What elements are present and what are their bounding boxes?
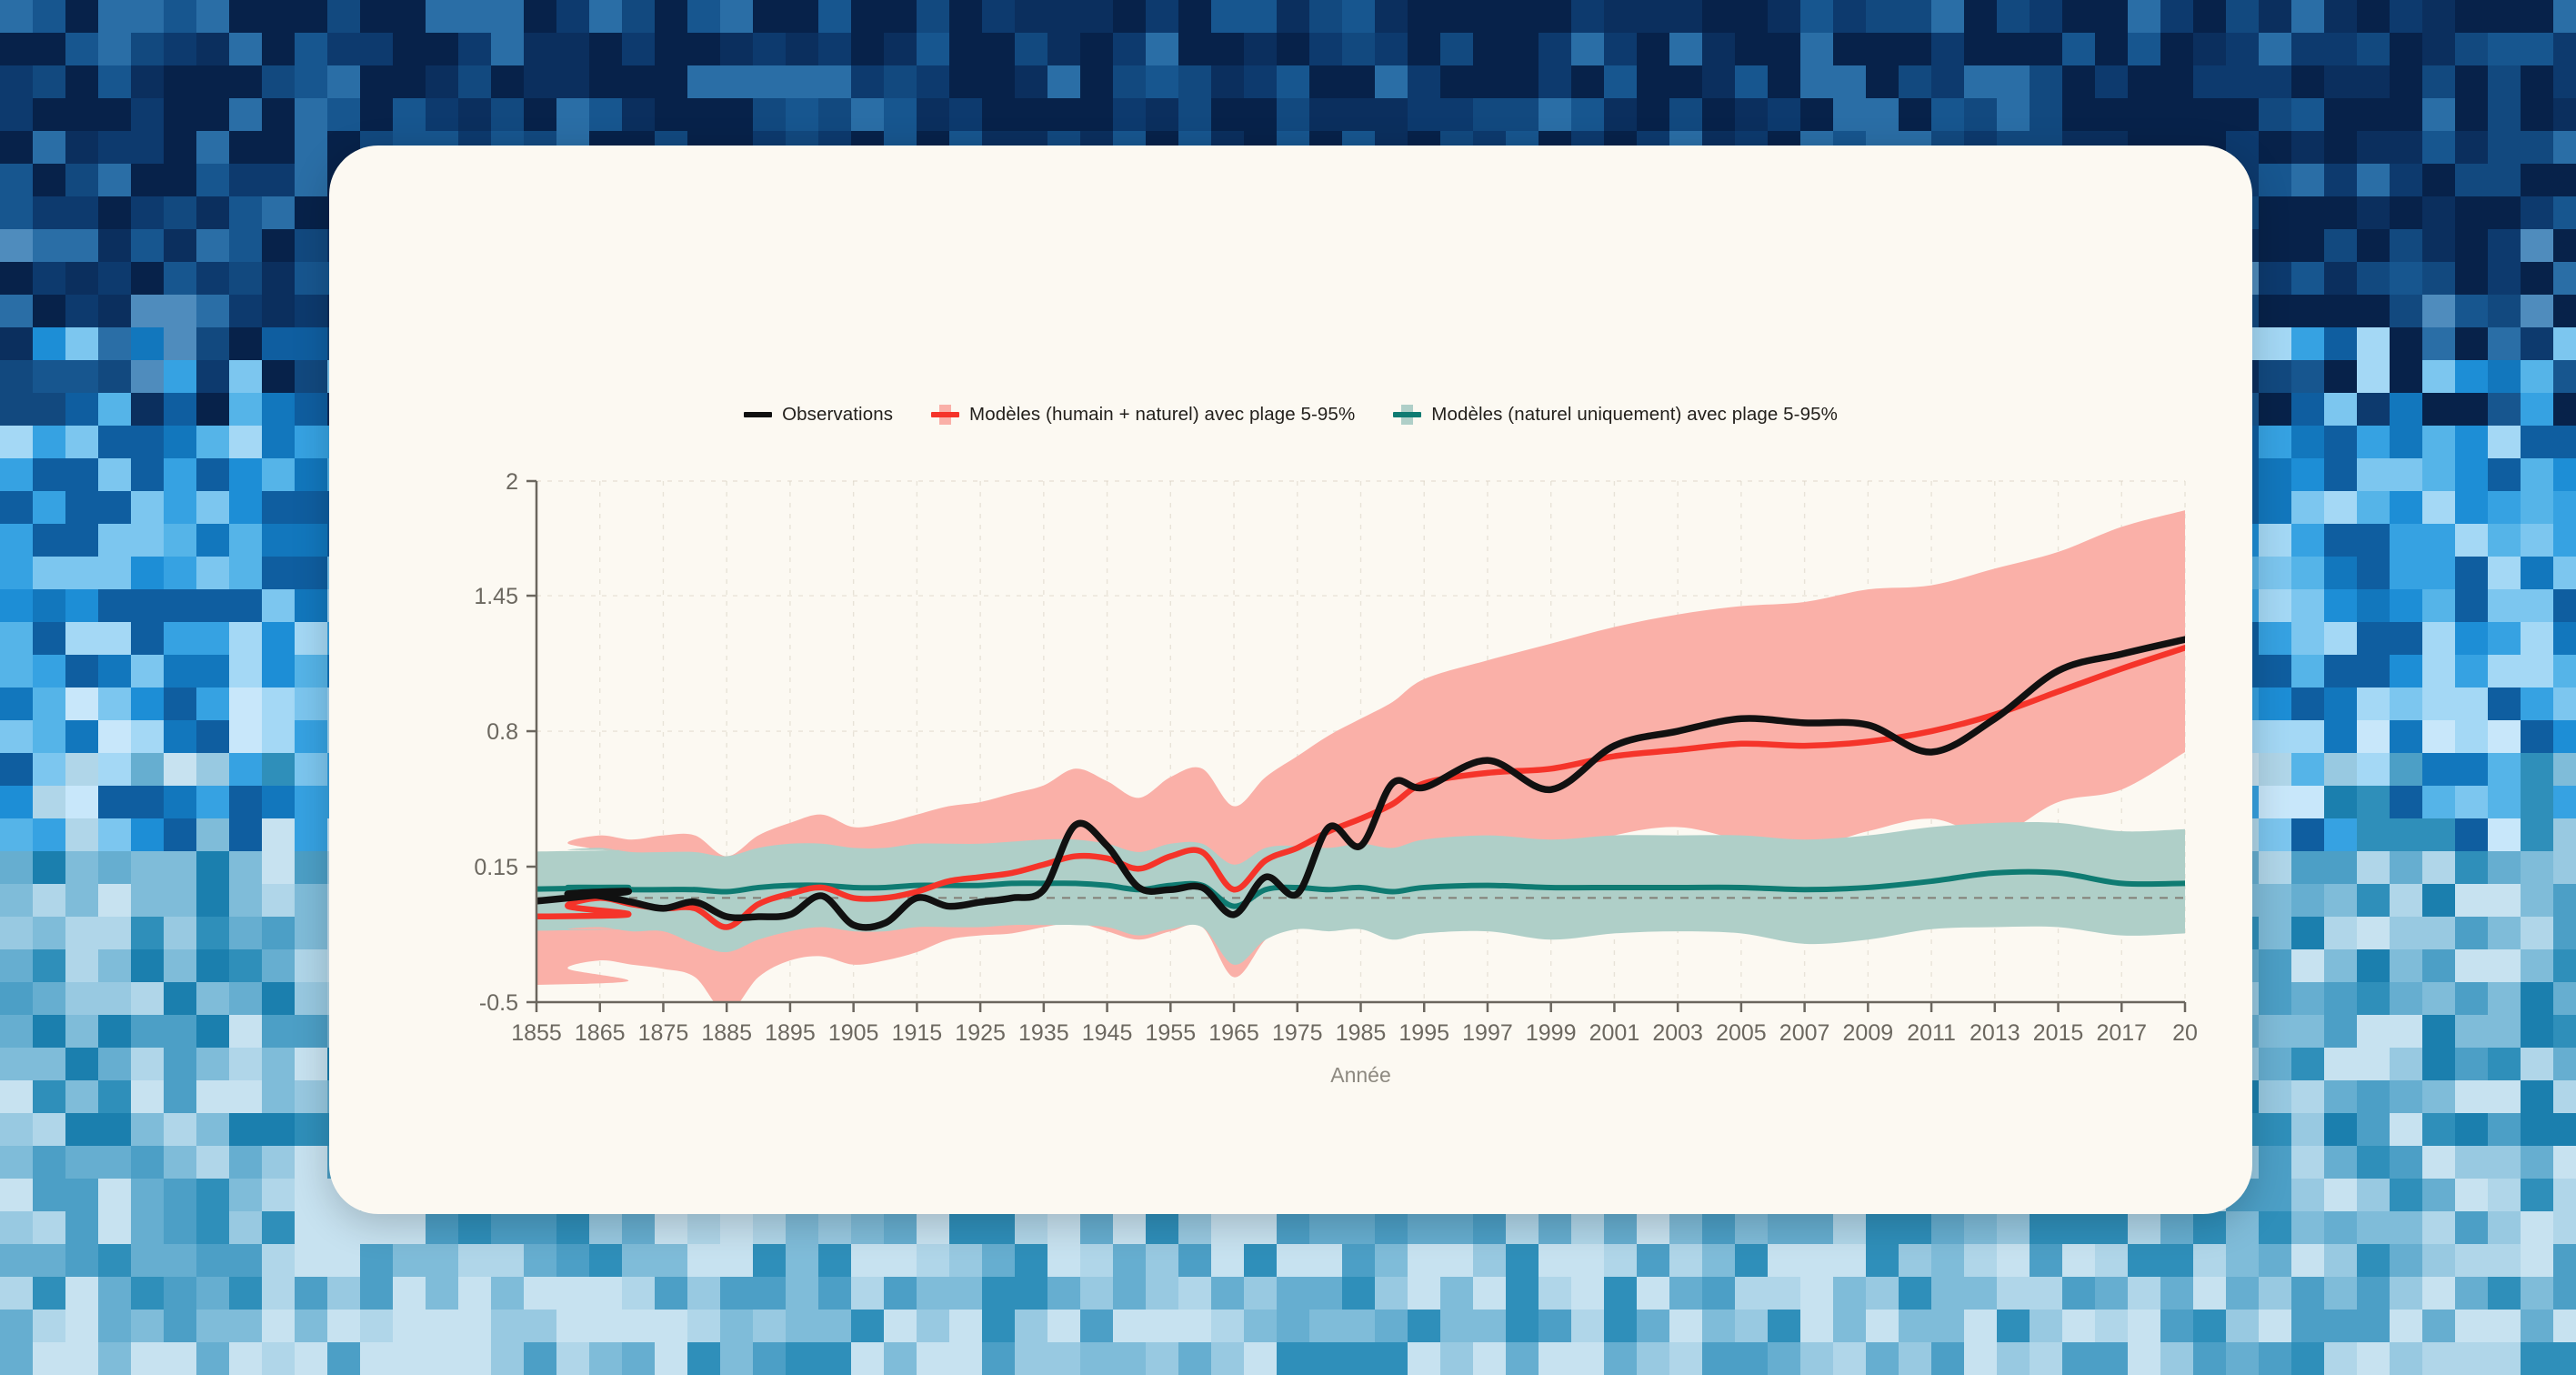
mosaic-tile bbox=[982, 0, 1015, 33]
mosaic-tile bbox=[1473, 33, 1506, 65]
mosaic-tile bbox=[1146, 65, 1178, 98]
mosaic-tile bbox=[65, 557, 98, 589]
mosaic-tile bbox=[98, 131, 131, 164]
mosaic-tile bbox=[65, 917, 98, 949]
mosaic-tile bbox=[1604, 0, 1637, 33]
mosaic-tile bbox=[2422, 687, 2455, 720]
mosaic-tile bbox=[2259, 949, 2291, 982]
mosaic-tile bbox=[2226, 1211, 2259, 1244]
mosaic-tile bbox=[851, 1244, 884, 1277]
x-tick-label: 2007 bbox=[1779, 1020, 1830, 1046]
mosaic-tile bbox=[982, 1277, 1015, 1310]
mosaic-tile bbox=[2160, 33, 2193, 65]
mosaic-tile bbox=[2160, 1310, 2193, 1342]
mosaic-tile bbox=[2521, 1179, 2553, 1211]
mosaic-tile bbox=[1768, 1277, 1800, 1310]
mosaic-tile bbox=[2553, 884, 2576, 917]
mosaic-tile bbox=[2553, 262, 2576, 295]
x-tick-label: 2017 bbox=[2096, 1020, 2147, 1046]
mosaic-tile bbox=[2390, 818, 2422, 851]
mosaic-tile bbox=[262, 1048, 295, 1080]
mosaic-tile bbox=[2422, 1080, 2455, 1113]
mosaic-tile bbox=[2128, 1244, 2160, 1277]
mosaic-tile bbox=[1244, 1277, 1277, 1310]
mosaic-tile bbox=[2422, 949, 2455, 982]
mosaic-tile bbox=[2095, 1342, 2128, 1375]
mosaic-tile bbox=[229, 1244, 262, 1277]
mosaic-tile bbox=[1309, 98, 1342, 131]
mosaic-tile bbox=[2160, 1342, 2193, 1375]
mosaic-tile bbox=[229, 229, 262, 262]
mosaic-tile bbox=[2324, 753, 2357, 786]
legend-swatch-human-natural bbox=[931, 405, 959, 425]
mosaic-tile bbox=[2259, 884, 2291, 917]
mosaic-tile bbox=[1506, 1211, 1539, 1244]
mosaic-tile bbox=[556, 1211, 589, 1244]
mosaic-tile bbox=[295, 393, 327, 426]
mosaic-tile bbox=[1866, 1211, 1899, 1244]
mosaic-tile bbox=[98, 1080, 131, 1113]
mosaic-tile bbox=[229, 1146, 262, 1179]
legend-item-observations[interactable]: Observations bbox=[744, 404, 893, 426]
mosaic-tile bbox=[655, 0, 687, 33]
mosaic-tile bbox=[720, 1310, 753, 1342]
mosaic-tile bbox=[1473, 1277, 1506, 1310]
mosaic-tile bbox=[2455, 393, 2488, 426]
mosaic-tile bbox=[295, 1244, 327, 1277]
mosaic-tile bbox=[1964, 65, 1997, 98]
mosaic-tile bbox=[1702, 1342, 1735, 1375]
mosaic-tile bbox=[2521, 1048, 2553, 1080]
mosaic-tile bbox=[327, 1244, 360, 1277]
mosaic-tile bbox=[131, 1277, 164, 1310]
mosaic-tile bbox=[1997, 0, 2030, 33]
mosaic-tile bbox=[196, 687, 229, 720]
mosaic-tile bbox=[33, 33, 65, 65]
mosaic-tile bbox=[295, 131, 327, 164]
mosaic-tile bbox=[196, 1277, 229, 1310]
mosaic-tile bbox=[720, 98, 753, 131]
mosaic-tile bbox=[622, 65, 655, 98]
mosaic-tile bbox=[65, 851, 98, 884]
mosaic-tile bbox=[1637, 1342, 1669, 1375]
mosaic-tile bbox=[1931, 65, 1964, 98]
mosaic-tile bbox=[2324, 1179, 2357, 1211]
mosaic-tile bbox=[1277, 0, 1309, 33]
mosaic-tile bbox=[229, 1048, 262, 1080]
mosaic-tile bbox=[491, 0, 524, 33]
mosaic-tile bbox=[229, 982, 262, 1015]
mosaic-tile bbox=[2455, 917, 2488, 949]
mosaic-tile bbox=[2291, 1211, 2324, 1244]
mosaic-tile bbox=[2455, 720, 2488, 753]
mosaic-tile bbox=[2521, 1277, 2553, 1310]
mosaic-tile bbox=[0, 33, 33, 65]
mosaic-tile bbox=[1342, 1211, 1375, 1244]
mosaic-tile bbox=[229, 360, 262, 393]
mosaic-tile bbox=[2324, 426, 2357, 458]
mosaic-tile bbox=[2455, 262, 2488, 295]
mosaic-tile bbox=[2259, 1113, 2291, 1146]
mosaic-tile bbox=[2390, 655, 2422, 687]
mosaic-tile bbox=[131, 360, 164, 393]
mosaic-tile bbox=[196, 327, 229, 360]
mosaic-tile bbox=[1408, 98, 1440, 131]
mosaic-tile bbox=[33, 786, 65, 818]
mosaic-tile bbox=[2390, 884, 2422, 917]
mosaic-tile bbox=[2422, 557, 2455, 589]
mosaic-tile bbox=[1146, 1342, 1178, 1375]
mosaic-tile bbox=[164, 0, 196, 33]
mosaic-tile bbox=[98, 98, 131, 131]
mosaic-tile bbox=[2390, 1080, 2422, 1113]
mosaic-tile bbox=[33, 65, 65, 98]
mosaic-tile bbox=[131, 1179, 164, 1211]
mosaic-tile bbox=[393, 1244, 426, 1277]
legend-label-natural-only: Modèles (naturel uniquement) avec plage … bbox=[1431, 404, 1838, 426]
mosaic-tile bbox=[2030, 1211, 2062, 1244]
x-tick-label: 1985 bbox=[1336, 1020, 1387, 1046]
mosaic-tile bbox=[360, 98, 393, 131]
mosaic-tile bbox=[2553, 982, 2576, 1015]
mosaic-tile bbox=[2390, 1310, 2422, 1342]
mosaic-tile bbox=[295, 949, 327, 982]
mosaic-tile bbox=[33, 687, 65, 720]
mosaic-tile bbox=[851, 1211, 884, 1244]
mosaic-tile bbox=[262, 327, 295, 360]
mosaic-tile bbox=[2226, 33, 2259, 65]
mosaic-tile bbox=[295, 818, 327, 851]
mosaic-tile bbox=[2291, 917, 2324, 949]
mosaic-tile bbox=[2521, 753, 2553, 786]
mosaic-tile bbox=[2455, 98, 2488, 131]
mosaic-tile bbox=[131, 557, 164, 589]
mosaic-tile bbox=[2357, 1015, 2390, 1048]
mosaic-tile bbox=[0, 589, 33, 622]
mosaic-tile bbox=[2488, 164, 2521, 196]
x-tick-label: 2011 bbox=[1907, 1020, 1956, 1046]
mosaic-tile bbox=[589, 0, 622, 33]
mosaic-tile bbox=[1309, 1342, 1342, 1375]
mosaic-tile bbox=[1211, 33, 1244, 65]
mosaic-tile bbox=[2553, 229, 2576, 262]
mosaic-tile bbox=[2521, 720, 2553, 753]
mosaic-tile bbox=[2062, 1211, 2095, 1244]
mosaic-tile bbox=[196, 622, 229, 655]
mosaic-tile bbox=[2488, 1310, 2521, 1342]
mosaic-tile bbox=[1146, 33, 1178, 65]
mosaic-tile bbox=[2521, 524, 2553, 557]
mosaic-tile bbox=[131, 0, 164, 33]
mosaic-tile bbox=[0, 164, 33, 196]
mosaic-tile bbox=[196, 1342, 229, 1375]
mosaic-tile bbox=[0, 1310, 33, 1342]
mosaic-tile bbox=[1440, 1342, 1473, 1375]
mosaic-tile bbox=[196, 949, 229, 982]
mosaic-tile bbox=[1015, 1211, 1047, 1244]
x-tick-label: 2001 bbox=[1589, 1020, 1640, 1046]
mosaic-tile bbox=[818, 33, 851, 65]
mosaic-tile bbox=[0, 1015, 33, 1048]
mosaic-tile bbox=[2455, 164, 2488, 196]
mosaic-tile bbox=[2291, 720, 2324, 753]
mosaic-tile bbox=[2521, 884, 2553, 917]
y-tick-label: 2 bbox=[506, 469, 518, 495]
mosaic-tile bbox=[33, 524, 65, 557]
mosaic-tile bbox=[65, 818, 98, 851]
mosaic-tile bbox=[98, 1048, 131, 1080]
mosaic-tile bbox=[2521, 917, 2553, 949]
mosaic-tile bbox=[2291, 196, 2324, 229]
mosaic-tile bbox=[196, 1244, 229, 1277]
mosaic-tile bbox=[818, 1277, 851, 1310]
mosaic-tile bbox=[327, 1310, 360, 1342]
mosaic-tile bbox=[556, 98, 589, 131]
mosaic-tile bbox=[196, 1211, 229, 1244]
mosaic-tile bbox=[2390, 458, 2422, 491]
mosaic-tile bbox=[2291, 295, 2324, 327]
mosaic-tile bbox=[2455, 687, 2488, 720]
mosaic-tile bbox=[2357, 884, 2390, 917]
mosaic-tile bbox=[2226, 0, 2259, 33]
mosaic-tile bbox=[131, 1211, 164, 1244]
mosaic-tile bbox=[917, 1310, 949, 1342]
mosaic-tile bbox=[720, 1244, 753, 1277]
mosaic-tile bbox=[753, 98, 786, 131]
mosaic-tile bbox=[851, 1310, 884, 1342]
chart-legend: Observations Modèles (humain + naturel) … bbox=[329, 404, 2252, 426]
mosaic-tile bbox=[65, 1244, 98, 1277]
mosaic-tile bbox=[1800, 1277, 1833, 1310]
mosaic-tile bbox=[295, 65, 327, 98]
mosaic-tile bbox=[33, 1146, 65, 1179]
mosaic-tile bbox=[2324, 458, 2357, 491]
mosaic-tile bbox=[0, 1080, 33, 1113]
mosaic-tile bbox=[687, 1277, 720, 1310]
mosaic-tile bbox=[1702, 65, 1735, 98]
mosaic-tile bbox=[1997, 1211, 2030, 1244]
x-tick-label: 1865 bbox=[575, 1020, 626, 1046]
mosaic-tile bbox=[2455, 0, 2488, 33]
mosaic-tile bbox=[2390, 720, 2422, 753]
mosaic-tile bbox=[2553, 131, 2576, 164]
mosaic-tile bbox=[1080, 1277, 1113, 1310]
mosaic-tile bbox=[2422, 1342, 2455, 1375]
mosaic-tile bbox=[0, 1244, 33, 1277]
mosaic-tile bbox=[884, 98, 917, 131]
mosaic-tile bbox=[393, 65, 426, 98]
x-tick-label: 1895 bbox=[765, 1020, 816, 1046]
mosaic-tile bbox=[33, 1048, 65, 1080]
mosaic-tile bbox=[164, 458, 196, 491]
mosaic-tile bbox=[295, 786, 327, 818]
mosaic-tile bbox=[2553, 589, 2576, 622]
mosaic-tile bbox=[262, 1211, 295, 1244]
mosaic-tile bbox=[2390, 622, 2422, 655]
mosaic-tile bbox=[1800, 1310, 1833, 1342]
mosaic-tile bbox=[164, 622, 196, 655]
mosaic-tile bbox=[426, 0, 458, 33]
mosaic-tile bbox=[622, 98, 655, 131]
mosaic-tile bbox=[753, 1310, 786, 1342]
mosaic-tile bbox=[2357, 622, 2390, 655]
mosaic-tile bbox=[2193, 1310, 2226, 1342]
mosaic-tile bbox=[229, 884, 262, 917]
mosaic-tile bbox=[1015, 1277, 1047, 1310]
mosaic-tile bbox=[196, 196, 229, 229]
mosaic-tile bbox=[1866, 1277, 1899, 1310]
mosaic-tile bbox=[2291, 982, 2324, 1015]
mosaic-tile bbox=[2030, 1244, 2062, 1277]
mosaic-tile bbox=[2455, 131, 2488, 164]
mosaic-tile bbox=[1375, 65, 1408, 98]
mosaic-tile bbox=[229, 98, 262, 131]
mosaic-tile bbox=[2291, 524, 2324, 557]
mosaic-tile bbox=[687, 33, 720, 65]
mosaic-tile bbox=[426, 1310, 458, 1342]
mosaic-tile bbox=[164, 491, 196, 524]
mosaic-tile bbox=[2521, 262, 2553, 295]
mosaic-tile bbox=[2553, 295, 2576, 327]
mosaic-tile bbox=[131, 720, 164, 753]
mosaic-tile bbox=[262, 1342, 295, 1375]
mosaic-tile bbox=[2390, 1211, 2422, 1244]
mosaic-tile bbox=[1047, 1277, 1080, 1310]
mosaic-tile bbox=[393, 1342, 426, 1375]
mosaic-tile bbox=[2324, 949, 2357, 982]
mosaic-tile bbox=[1408, 1244, 1440, 1277]
mosaic-tile bbox=[2390, 1277, 2422, 1310]
mosaic-tile bbox=[524, 1342, 556, 1375]
mosaic-tile bbox=[2553, 1015, 2576, 1048]
mosaic-tile bbox=[0, 884, 33, 917]
mosaic-tile bbox=[2291, 1277, 2324, 1310]
mosaic-tile bbox=[393, 0, 426, 33]
mosaic-tile bbox=[1473, 0, 1506, 33]
mosaic-tile bbox=[1964, 33, 1997, 65]
mosaic-tile bbox=[1080, 65, 1113, 98]
mosaic-tile bbox=[2521, 360, 2553, 393]
mosaic-tile bbox=[2455, 229, 2488, 262]
mosaic-tile bbox=[2521, 458, 2553, 491]
mosaic-tile bbox=[2553, 491, 2576, 524]
mosaic-tile bbox=[2488, 1048, 2521, 1080]
mosaic-tile bbox=[1146, 1211, 1178, 1244]
mosaic-tile bbox=[2422, 393, 2455, 426]
mosaic-tile bbox=[2390, 131, 2422, 164]
mosaic-tile bbox=[2357, 982, 2390, 1015]
mosaic-tile bbox=[556, 1277, 589, 1310]
mosaic-tile bbox=[229, 1342, 262, 1375]
mosaic-tile bbox=[2259, 524, 2291, 557]
mosaic-tile bbox=[164, 1048, 196, 1080]
mosaic-tile bbox=[655, 65, 687, 98]
mosaic-tile bbox=[1506, 1310, 1539, 1342]
mosaic-tile bbox=[262, 1179, 295, 1211]
mosaic-tile bbox=[589, 1342, 622, 1375]
mosaic-tile bbox=[196, 458, 229, 491]
mosaic-tile bbox=[2422, 818, 2455, 851]
mosaic-tile bbox=[2455, 1080, 2488, 1113]
mosaic-tile bbox=[753, 1342, 786, 1375]
mosaic-tile bbox=[2455, 949, 2488, 982]
mosaic-tile bbox=[0, 0, 33, 33]
mosaic-tile bbox=[164, 65, 196, 98]
mosaic-tile bbox=[2553, 917, 2576, 949]
mosaic-tile bbox=[2324, 1310, 2357, 1342]
mosaic-tile bbox=[196, 1146, 229, 1179]
legend-item-natural-only[interactable]: Modèles (naturel uniquement) avec plage … bbox=[1393, 404, 1838, 426]
mosaic-tile bbox=[2324, 1015, 2357, 1048]
mosaic-tile bbox=[2324, 655, 2357, 687]
mosaic-tile bbox=[229, 1211, 262, 1244]
mosaic-tile bbox=[1015, 33, 1047, 65]
mosaic-tile bbox=[295, 524, 327, 557]
mosaic-tile bbox=[2488, 622, 2521, 655]
mosaic-tile bbox=[2291, 229, 2324, 262]
mosaic-tile bbox=[2521, 982, 2553, 1015]
mosaic-tile bbox=[655, 1310, 687, 1342]
mosaic-tile bbox=[1342, 1277, 1375, 1310]
mosaic-tile bbox=[818, 98, 851, 131]
mosaic-tile bbox=[2259, 1310, 2291, 1342]
mosaic-tile bbox=[98, 1277, 131, 1310]
mosaic-tile bbox=[1408, 1211, 1440, 1244]
mosaic-tile bbox=[622, 1211, 655, 1244]
mosaic-tile bbox=[65, 1342, 98, 1375]
mosaic-tile bbox=[262, 753, 295, 786]
mosaic-tile bbox=[131, 884, 164, 917]
mosaic-tile bbox=[1866, 98, 1899, 131]
mosaic-tile bbox=[1277, 65, 1309, 98]
mosaic-tile bbox=[2226, 65, 2259, 98]
mosaic-tile bbox=[229, 393, 262, 426]
mosaic-tile bbox=[426, 1342, 458, 1375]
mosaic-tile bbox=[2291, 458, 2324, 491]
mosaic-tile bbox=[2455, 1310, 2488, 1342]
mosaic-tile bbox=[818, 1211, 851, 1244]
mosaic-tile bbox=[0, 1211, 33, 1244]
legend-item-human-natural[interactable]: Modèles (humain + naturel) avec plage 5-… bbox=[931, 404, 1355, 426]
mosaic-tile bbox=[1702, 33, 1735, 65]
mosaic-tile bbox=[262, 98, 295, 131]
mosaic-tile bbox=[2291, 1015, 2324, 1048]
mosaic-tile bbox=[2357, 491, 2390, 524]
mosaic-tile bbox=[1800, 98, 1833, 131]
mosaic-tile bbox=[1735, 1211, 1768, 1244]
mosaic-tile bbox=[1375, 1342, 1408, 1375]
mosaic-tile bbox=[131, 1244, 164, 1277]
x-tick-label: 1915 bbox=[892, 1020, 943, 1046]
mosaic-tile bbox=[1931, 1244, 1964, 1277]
mosaic-tile bbox=[2259, 622, 2291, 655]
mosaic-tile bbox=[1178, 0, 1211, 33]
mosaic-tile bbox=[2553, 360, 2576, 393]
mosaic-tile bbox=[2488, 262, 2521, 295]
mosaic-tile bbox=[2521, 1310, 2553, 1342]
mosaic-tile bbox=[1080, 0, 1113, 33]
mosaic-tile bbox=[2095, 0, 2128, 33]
mosaic-tile bbox=[2422, 1310, 2455, 1342]
mosaic-tile bbox=[1669, 98, 1702, 131]
mosaic-tile bbox=[2521, 295, 2553, 327]
mosaic-tile bbox=[33, 1244, 65, 1277]
mosaic-tile bbox=[2030, 65, 2062, 98]
mosaic-tile bbox=[2553, 327, 2576, 360]
mosaic-tile bbox=[295, 0, 327, 33]
mosaic-tile bbox=[196, 557, 229, 589]
mosaic-tile bbox=[1211, 98, 1244, 131]
